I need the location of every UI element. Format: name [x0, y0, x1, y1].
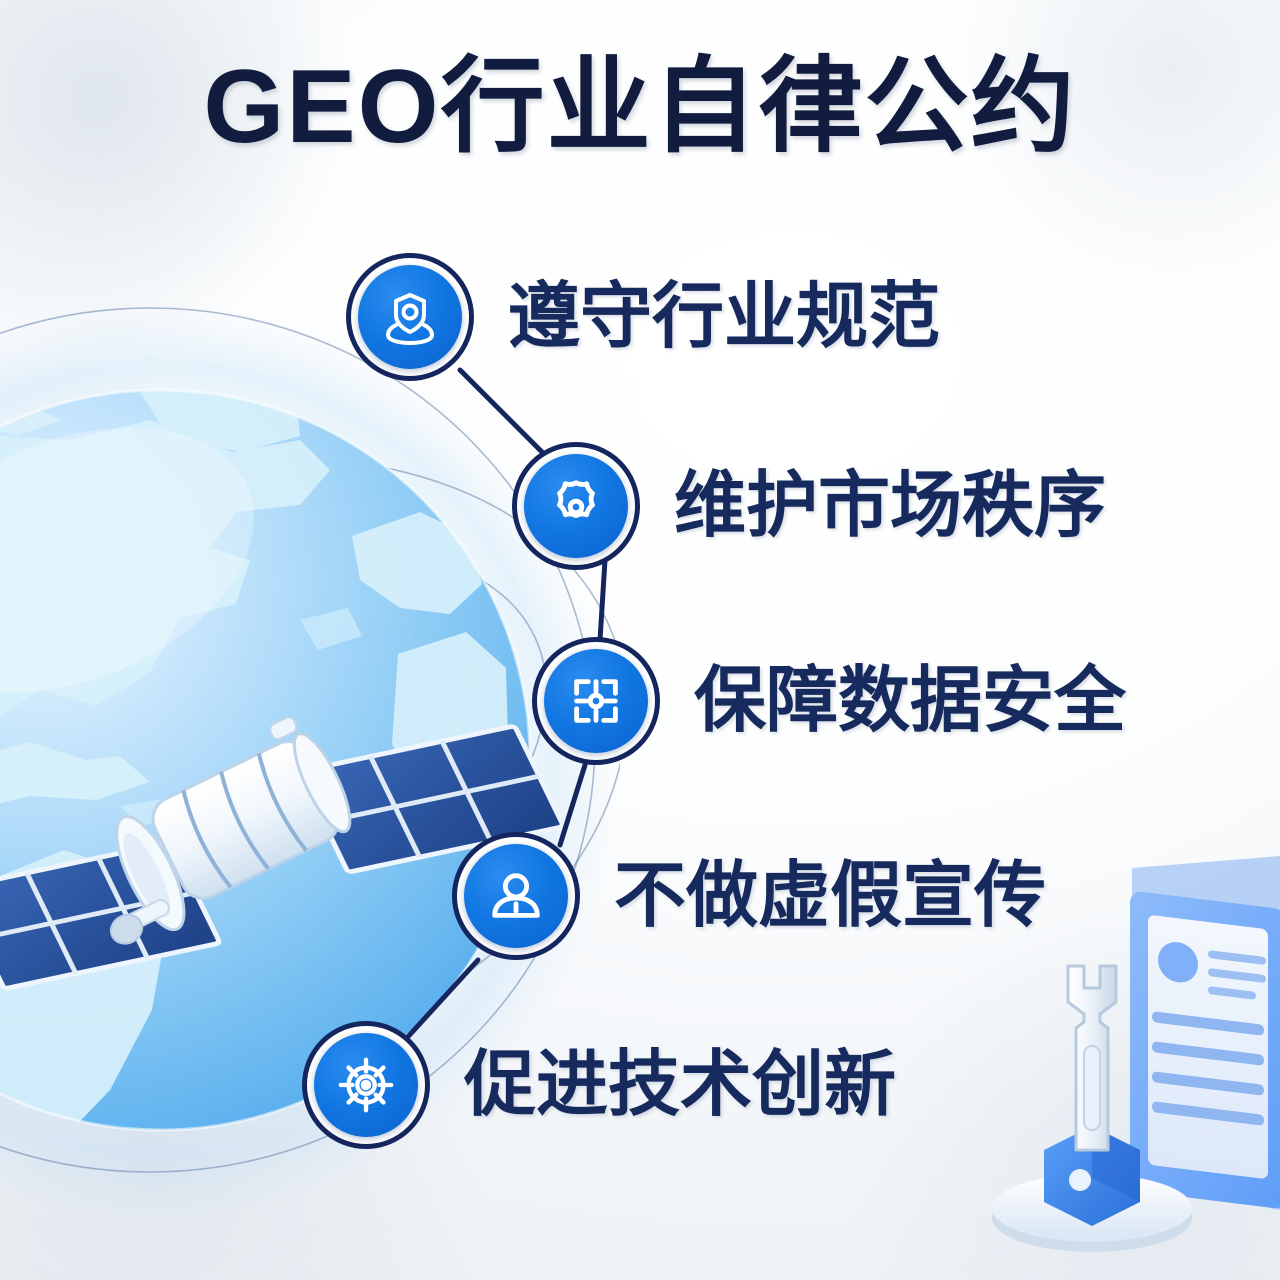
- pledge-row-3[interactable]: 保障数据安全: [532, 626, 1126, 776]
- target-innovation-icon: [335, 1054, 397, 1116]
- pledge-badge-2[interactable]: [512, 442, 640, 570]
- globe-sheen: [0, 378, 293, 743]
- corner-vignette-bottom-right: [840, 920, 1280, 1280]
- pledge-label-3: 保障数据安全: [694, 665, 1126, 737]
- satellite-dish: [67, 808, 197, 956]
- pledge-row-4[interactable]: 不做虚假宣传: [452, 821, 1046, 971]
- base-platform: [992, 1174, 1192, 1252]
- satellite-body: [146, 727, 361, 906]
- pledge-badge-5[interactable]: [302, 1021, 430, 1149]
- solar-panel-left: [0, 842, 220, 989]
- wrench-tool-illustration: [1068, 966, 1116, 1150]
- pledge-row-2[interactable]: 维护市场秩序: [512, 431, 1106, 581]
- certificate-contents: [1152, 939, 1266, 1126]
- pledge-label-4: 不做虚假宣传: [614, 860, 1046, 932]
- pledge-label-5: 促进技术创新: [464, 1049, 896, 1121]
- data-chip-security-icon: [565, 670, 627, 732]
- pledge-badge-4[interactable]: [452, 832, 580, 960]
- satellite-antenna: [268, 715, 298, 741]
- gear-icon: [545, 475, 607, 537]
- pledge-label-1: 遵守行业规范: [508, 281, 940, 353]
- pledge-badge-3[interactable]: [532, 637, 660, 765]
- pledge-label-2: 维护市场秩序: [674, 470, 1106, 542]
- satellite-boom: [158, 782, 316, 867]
- pledge-row-1[interactable]: 遵守行业规范: [346, 242, 940, 392]
- hex-block: [1044, 1126, 1140, 1226]
- user-person-icon: [485, 865, 547, 927]
- pledge-badge-1[interactable]: [346, 253, 474, 381]
- shield-location-pin-icon: [378, 285, 442, 349]
- poster-canvas: GEO行业自律公约: [0, 0, 1280, 1280]
- page-title: GEO行业自律公约: [0, 52, 1280, 162]
- certificate-document-illustration: [1130, 856, 1280, 1210]
- pledge-row-5[interactable]: 促进技术创新: [302, 1010, 896, 1160]
